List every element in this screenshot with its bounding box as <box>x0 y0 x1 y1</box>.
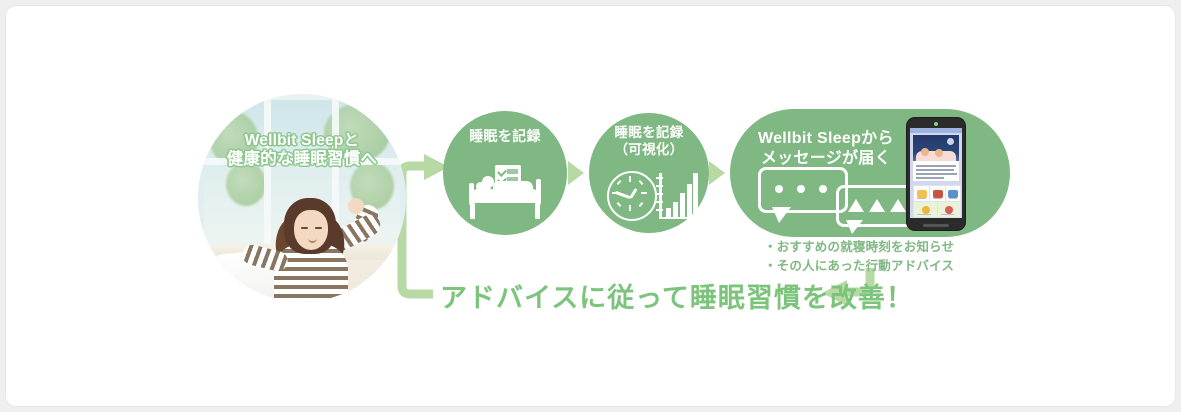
bar-chart-icon <box>659 171 697 219</box>
arrow-node1-to-node2 <box>568 161 584 185</box>
photo-person-face <box>294 210 328 250</box>
flow-node-record-sleep[interactable]: 睡眠を記録 <box>443 111 567 235</box>
bullet-item: ・その人にあった行動アドバイス <box>764 257 954 276</box>
clock-icon <box>607 171 657 221</box>
phone-app-tile <box>913 185 930 202</box>
photo-person-eye <box>301 227 308 229</box>
phone-status-bar <box>910 128 962 133</box>
flow-diagram: Wellbit Sleepと 健康的な睡眠習慣へ 睡眠を記録 <box>6 6 1175 406</box>
hero-caption-line2: 健康的な睡眠習慣へ <box>198 150 406 169</box>
node3-title-line2: メッセージが届く <box>758 149 894 169</box>
clock-barchart-icon <box>607 171 693 221</box>
hero-photo: Wellbit Sleepと 健康的な睡眠習慣へ <box>198 94 406 302</box>
content-card: Wellbit Sleepと 健康的な睡眠習慣へ 睡眠を記録 <box>6 6 1175 406</box>
photo-person-eye <box>315 227 322 229</box>
phone-screen <box>910 128 962 218</box>
phone-app-tile <box>937 201 961 218</box>
node3-title: Wellbit Sleepから メッセージが届く <box>758 129 894 169</box>
flow-node-receive-message[interactable]: Wellbit Sleepから メッセージが届く <box>730 109 1010 237</box>
phone-app-tile <box>945 185 961 202</box>
photo-person-hand <box>348 198 364 214</box>
flow-node-visualize-sleep[interactable]: 睡眠を記録 （可視化） <box>589 113 709 233</box>
hero-photo-caption: Wellbit Sleepと 健康的な睡眠習慣へ <box>198 132 406 169</box>
speech-bubble-tail <box>772 207 791 223</box>
node3-title-line1: Wellbit Sleepから <box>758 129 894 149</box>
speech-bubble-tail <box>846 220 863 234</box>
phone-home-indicator <box>923 224 949 227</box>
node2-title: 睡眠を記録 （可視化） <box>615 125 684 159</box>
smartphone-mockup <box>907 118 965 230</box>
bottom-caption: アドバイスに従って睡眠習慣を改善！ <box>440 276 914 315</box>
node1-title: 睡眠を記録 <box>469 128 541 146</box>
phone-message-card <box>913 135 959 181</box>
node2-title-line2: （可視化） <box>615 142 684 159</box>
phone-night-illustration <box>913 135 959 161</box>
phone-app-tile <box>913 201 938 218</box>
node2-title-line1: 睡眠を記録 <box>615 125 684 142</box>
photo-mullion <box>264 100 271 250</box>
hero-caption-line1: Wellbit Sleepと <box>198 132 406 150</box>
phone-camera-icon <box>934 122 938 126</box>
bed-checklist-icon <box>469 165 541 221</box>
arrow-node2-to-node3 <box>709 161 725 185</box>
phone-app-tile <box>929 185 946 202</box>
benefit-bullets: ・おすすめの就寝時刻をお知らせ ・その人にあった行動アドバイス <box>764 238 954 276</box>
bullet-item: ・おすすめの就寝時刻をお知らせ <box>764 238 954 257</box>
arrow-photo-to-node1 <box>402 154 449 294</box>
